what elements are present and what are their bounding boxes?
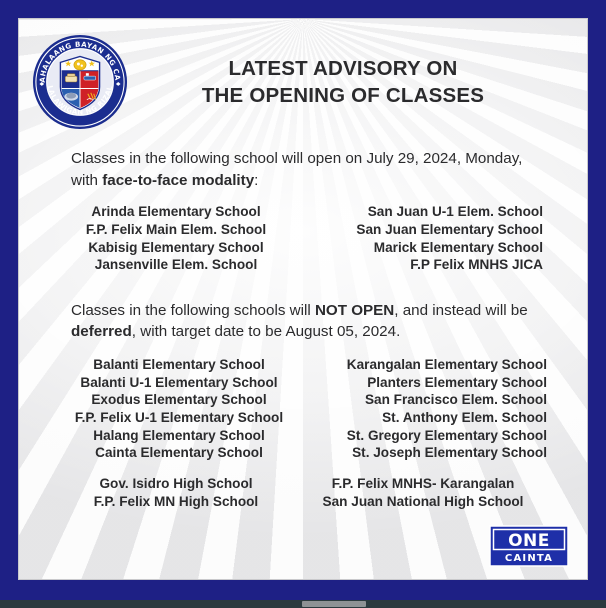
deferred-paragraph-part-1: Classes in the following schools will xyxy=(71,302,315,319)
bottom-scrollbar[interactable] xyxy=(0,600,606,608)
deferred-paragraph: Classes in the following schools will NO… xyxy=(71,300,535,343)
list-item: Balanti U-1 Elementary School xyxy=(59,374,299,392)
deferred-school-lists: Balanti Elementary School Balanti U-1 El… xyxy=(53,356,553,462)
list-item: St. Gregory Elementary School xyxy=(303,427,547,445)
list-item: San Francisco Elem. School xyxy=(303,391,547,409)
list-item: Jansenville Elem. School xyxy=(53,256,299,274)
one-cainta-logo: ONE CAINTA xyxy=(489,525,569,567)
deferred-high-school-list-right: F.P. Felix MNHS- Karangalan San Juan Nat… xyxy=(303,475,553,510)
list-item: F.P. Felix U-1 Elementary School xyxy=(59,409,299,427)
opening-school-list-left: Arinda Elementary School F.P. Felix Main… xyxy=(53,203,303,274)
deferred-high-school-list-left: Gov. Isidro High School F.P. Felix MN Hi… xyxy=(53,475,303,510)
poster-header: PAMAHALAANG BAYAN NG CAINTA LALAWIGAN NG… xyxy=(19,19,587,131)
advisory-poster: PAMAHALAANG BAYAN NG CAINTA LALAWIGAN NG… xyxy=(0,0,606,608)
opening-school-lists: Arinda Elementary School F.P. Felix Main… xyxy=(53,203,553,274)
opening-school-list-right: San Juan U-1 Elem. School San Juan Eleme… xyxy=(303,203,553,274)
deferred-paragraph-emphasis-2: deferred xyxy=(71,323,132,340)
list-item: Balanti Elementary School xyxy=(59,356,299,374)
opening-paragraph-part-2: : xyxy=(254,172,258,189)
list-item: F.P. Felix MNHS- Karangalan xyxy=(303,475,543,493)
deferred-paragraph-emphasis-1: NOT OPEN xyxy=(315,302,394,319)
list-item: F.P Felix MNHS JICA xyxy=(303,256,543,274)
list-item: F.P. Felix MN High School xyxy=(53,493,299,511)
bottom-scrollbar-thumb[interactable] xyxy=(302,601,366,607)
list-item: Exodus Elementary School xyxy=(59,391,299,409)
poster-panel: PAMAHALAANG BAYAN NG CAINTA LALAWIGAN NG… xyxy=(18,18,588,580)
poster-title: LATEST ADVISORY ON THE OPENING OF CLASSE… xyxy=(129,55,571,110)
cainta-municipal-seal-icon: PAMAHALAANG BAYAN NG CAINTA LALAWIGAN NG… xyxy=(31,33,129,131)
svg-text:CAINTA: CAINTA xyxy=(505,553,553,564)
deferred-school-list-right: Karangalan Elementary School Planters El… xyxy=(303,356,553,462)
deferred-school-list-left: Balanti Elementary School Balanti U-1 El… xyxy=(53,356,303,462)
deferred-paragraph-part-2: , and instead will be xyxy=(394,302,527,319)
poster-content: PAMAHALAANG BAYAN NG CAINTA LALAWIGAN NG… xyxy=(19,19,587,579)
list-item: Kabisig Elementary School xyxy=(53,239,299,257)
list-item: Gov. Isidro High School xyxy=(53,475,299,493)
svg-text:ONE: ONE xyxy=(508,531,550,551)
list-item: San Juan National High School xyxy=(303,493,543,511)
list-item: San Juan Elementary School xyxy=(303,221,543,239)
list-item: St. Anthony Elem. School xyxy=(303,409,547,427)
opening-paragraph-emphasis: face-to-face modality xyxy=(102,172,254,189)
list-item: Arinda Elementary School xyxy=(53,203,299,221)
title-line-1: LATEST ADVISORY ON xyxy=(129,55,557,82)
list-item: Karangalan Elementary School xyxy=(303,356,547,374)
list-item: Halang Elementary School xyxy=(59,427,299,445)
opening-paragraph: Classes in the following school will ope… xyxy=(71,148,535,191)
list-item: San Juan U-1 Elem. School xyxy=(303,203,543,221)
list-item: Marick Elementary School xyxy=(303,239,543,257)
list-item: F.P. Felix Main Elem. School xyxy=(53,221,299,239)
list-item: Cainta Elementary School xyxy=(59,444,299,462)
title-line-2: THE OPENING OF CLASSES xyxy=(129,82,557,109)
list-item: St. Joseph Elementary School xyxy=(303,444,547,462)
deferred-high-school-lists: Gov. Isidro High School F.P. Felix MN Hi… xyxy=(53,475,553,510)
deferred-paragraph-part-3: , with target date to be August 05, 2024… xyxy=(132,323,401,340)
list-item: Planters Elementary School xyxy=(303,374,547,392)
